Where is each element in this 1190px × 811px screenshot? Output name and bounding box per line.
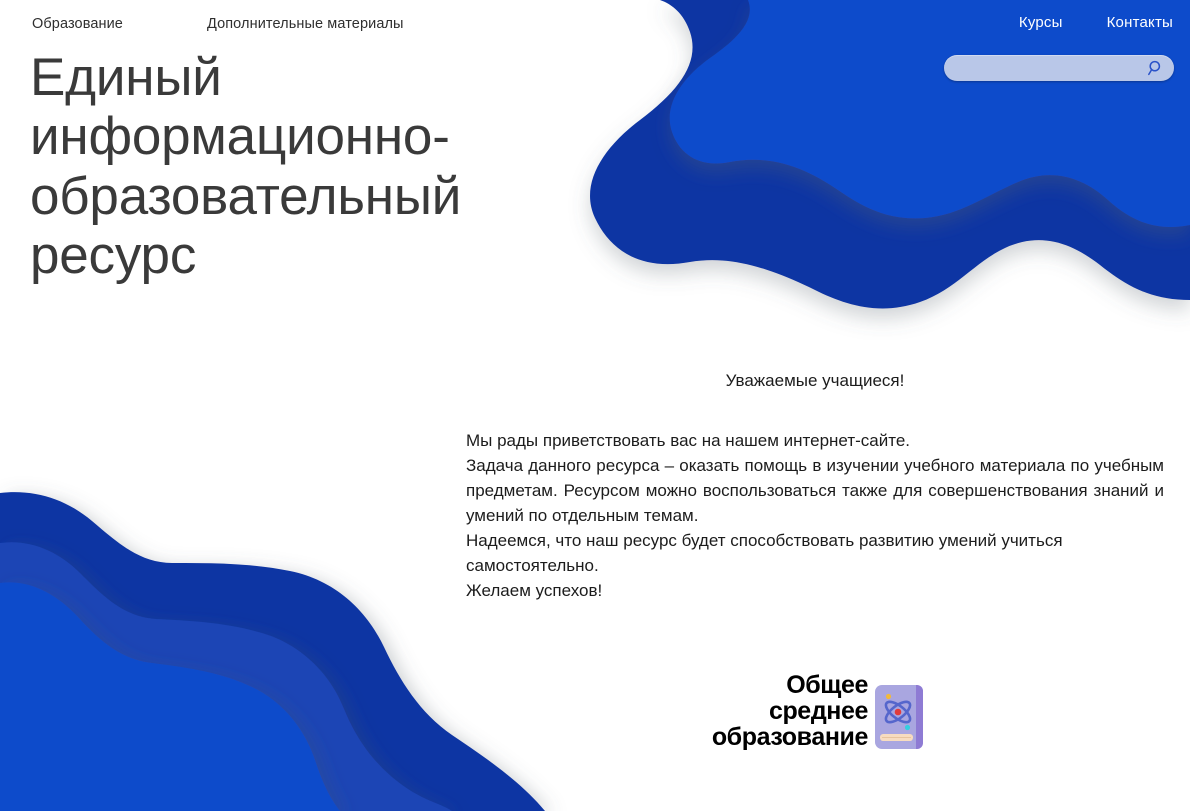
logo-text: Общее среднее образование <box>712 672 868 750</box>
wave-layer-dark-top <box>590 0 1190 308</box>
wave-layer-mid-bottom <box>0 542 452 811</box>
welcome-heading: Уважаемые учащиеся! <box>466 370 1164 392</box>
wave-layer-bright-bottom <box>0 582 340 811</box>
logo-text-line-1: Общее <box>712 672 868 698</box>
book-atom-icon <box>874 684 924 750</box>
welcome-section: Уважаемые учащиеся! Мы рады приветствова… <box>466 370 1164 603</box>
nav-link-contacts[interactable]: Контакты <box>1107 14 1173 31</box>
welcome-paragraph-3: Надеемся, что наш ресурс будет способств… <box>466 528 1164 578</box>
nav-link-additional-materials[interactable]: Дополнительные материалы <box>207 16 404 32</box>
welcome-body: Мы рады приветствовать вас на нашем инте… <box>466 428 1164 603</box>
wave-layer-bright-top <box>670 0 1190 227</box>
landing-page: Образование Дополнительные материалы Кур… <box>0 0 1190 811</box>
welcome-paragraph-4: Желаем успехов! <box>466 578 1164 603</box>
logo-text-line-2: среднее <box>712 698 868 724</box>
wave-layer-dark-bottom <box>0 492 545 811</box>
nav-link-courses[interactable]: Курсы <box>1019 14 1063 31</box>
welcome-paragraph-1: Мы рады приветствовать вас на нашем инте… <box>466 428 1164 453</box>
welcome-paragraph-2: Задача данного ресурса – оказать помощь … <box>466 453 1164 528</box>
search-box <box>944 55 1174 81</box>
primary-nav-right: Курсы Контакты <box>1019 14 1173 31</box>
page-title: Единый информационно-образовательный рес… <box>30 48 590 285</box>
search-input[interactable] <box>944 55 1174 81</box>
logo-text-line-3: образование <box>712 724 868 750</box>
primary-nav-left: Образование Дополнительные материалы <box>32 16 404 32</box>
nav-link-education[interactable]: Образование <box>32 16 123 32</box>
logo[interactable]: Общее среднее образование <box>668 672 924 750</box>
search-icon[interactable] <box>1147 59 1165 77</box>
